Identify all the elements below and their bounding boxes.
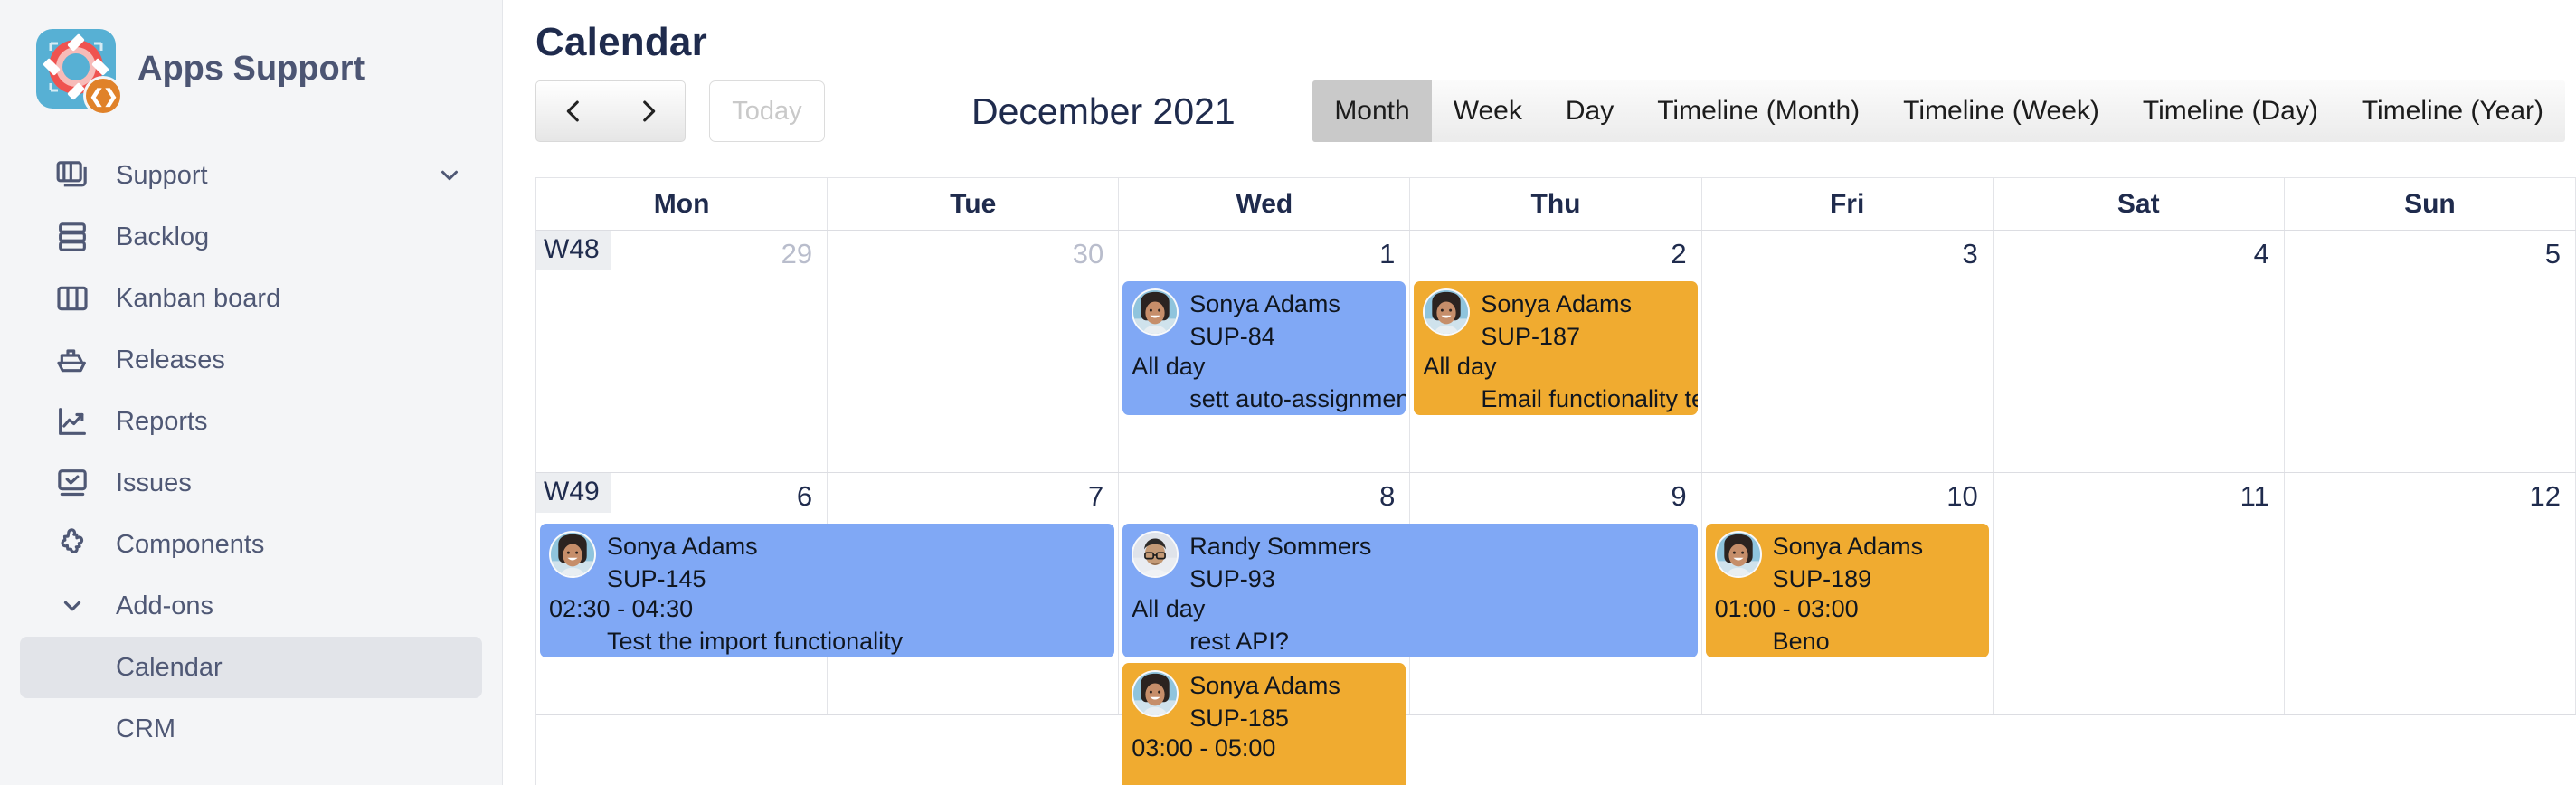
- next-period-button[interactable]: [611, 81, 685, 141]
- event-assignee: Sonya Adams: [1189, 670, 1340, 703]
- main-content: Calendar Today December 2021 Month Wee: [503, 0, 2576, 785]
- day-number: 8: [1379, 480, 1395, 513]
- event-assignee: Sonya Adams: [607, 531, 758, 563]
- calendar-event[interactable]: Sonya AdamsSUP-187All dayEmail functiona…: [1414, 281, 1697, 415]
- tab-timeline-year[interactable]: Timeline (Year): [2340, 80, 2565, 142]
- day-header-fri: Fri: [1702, 178, 1994, 230]
- calendar-day-headers: Mon Tue Wed Thu Fri Sat Sun: [536, 178, 2576, 231]
- chevron-left-icon: [558, 96, 589, 127]
- sidebar-subitem-label: Calendar: [116, 653, 223, 683]
- calendar-week-row: 6789101112W49Sonya AdamsSUP-14502:30 - 0…: [536, 473, 2576, 715]
- sidebar-item-crm[interactable]: CRM: [20, 698, 482, 760]
- calendar-week-row: 293012345W48Sonya AdamsSUP-84All daysett…: [536, 231, 2576, 473]
- board-stack-icon: [52, 156, 92, 195]
- brand[interactable]: ❮❯ Apps Support: [0, 20, 502, 118]
- tab-day[interactable]: Day: [1544, 80, 1635, 142]
- prev-period-button[interactable]: [536, 81, 611, 141]
- app-root: ❮❯ Apps Support Support: [0, 0, 2576, 785]
- tab-timeline-week[interactable]: Timeline (Week): [1881, 80, 2121, 142]
- sidebar: ❮❯ Apps Support Support: [0, 0, 503, 785]
- event-issue-key: SUP-145: [607, 563, 758, 596]
- avatar-woman-icon: [549, 531, 596, 578]
- calendar-toolbar: Today December 2021 Month Week Day Timel…: [503, 72, 2576, 150]
- day-header-wed: Wed: [1119, 178, 1410, 230]
- calendar-event[interactable]: Sonya AdamsSUP-84All daysett auto-assign…: [1122, 281, 1406, 415]
- event-issue-key: SUP-185: [1189, 703, 1340, 735]
- event-assignee: Randy Sommers: [1189, 531, 1371, 563]
- avatar-man-icon: [1132, 531, 1179, 578]
- event-description: Email functionality tes: [1423, 383, 1688, 415]
- sidebar-item-label: Kanban board: [116, 284, 280, 314]
- event-time: All day: [1132, 351, 1397, 383]
- sidebar-item-components[interactable]: Components: [20, 514, 482, 575]
- avatar-woman-icon: [1423, 288, 1470, 336]
- sidebar-subitem-label: CRM: [116, 714, 175, 744]
- day-header-thu: Thu: [1410, 178, 1701, 230]
- sidebar-item-reports[interactable]: Reports: [20, 391, 482, 452]
- chevron-down-icon: [52, 586, 92, 626]
- tab-timeline-month[interactable]: Timeline (Month): [1635, 80, 1881, 142]
- lifebuoy-icon: ❮❯: [36, 29, 116, 109]
- avatar-woman-icon: [1132, 288, 1179, 336]
- view-tabs: Month Week Day Timeline (Month) Timeline…: [1312, 80, 2565, 142]
- sidebar-item-label: Components: [116, 530, 264, 560]
- week-number-badge: W48: [536, 231, 611, 270]
- day-number: 9: [1671, 480, 1686, 513]
- sidebar-item-releases[interactable]: Releases: [20, 329, 482, 391]
- day-number: 11: [2240, 480, 2269, 513]
- sidebar-item-support[interactable]: Support: [20, 145, 482, 206]
- event-description: sett auto-assignments: [1132, 383, 1397, 415]
- calendar-grid: Mon Tue Wed Thu Fri Sat Sun 293012345W48…: [535, 177, 2576, 785]
- day-number: 10: [1946, 480, 1977, 513]
- sidebar-item-label: Reports: [116, 407, 208, 437]
- event-issue-key: SUP-93: [1189, 563, 1371, 596]
- calendar-event[interactable]: Sonya AdamsSUP-18901:00 - 03:00Beno2h: [1706, 524, 1989, 657]
- event-description: Test the import functionality: [549, 626, 1105, 657]
- page-title: Calendar: [503, 0, 2576, 65]
- chevron-right-icon: [633, 96, 664, 127]
- event-issue-key: SUP-189: [1773, 563, 1924, 596]
- sidebar-item-label: Add-ons: [116, 591, 213, 621]
- calendar-nav-buttons: [535, 80, 686, 142]
- day-number: 5: [2545, 238, 2561, 270]
- sidebar-item-kanban-board[interactable]: Kanban board: [20, 268, 482, 329]
- today-button[interactable]: Today: [709, 80, 825, 142]
- week-number-badge: W49: [536, 473, 611, 513]
- day-number: 12: [2530, 480, 2561, 513]
- day-number: 2: [1671, 238, 1686, 270]
- day-header-sun: Sun: [2285, 178, 2576, 230]
- event-time: All day: [1132, 593, 1688, 626]
- day-number: 4: [2254, 238, 2269, 270]
- day-number: 1: [1379, 238, 1395, 270]
- avatar-woman-icon: [1715, 531, 1762, 578]
- layers-icon: [52, 217, 92, 257]
- sidebar-item-label: Releases: [116, 345, 225, 375]
- day-number: 30: [1073, 238, 1103, 270]
- event-description: rest API?: [1132, 626, 1688, 657]
- day-number: 3: [1962, 238, 1977, 270]
- day-number: 7: [1088, 480, 1103, 513]
- brand-title: Apps Support: [137, 50, 365, 89]
- sidebar-item-label: Backlog: [116, 222, 209, 252]
- puzzle-icon: [52, 525, 92, 564]
- calendar-weeks: 293012345W48Sonya AdamsSUP-84All daysett…: [536, 231, 2576, 715]
- sidebar-item-issues[interactable]: Issues: [20, 452, 482, 514]
- week-events: Sonya AdamsSUP-84All daysett auto-assign…: [536, 281, 2576, 472]
- tab-timeline-day[interactable]: Timeline (Day): [2121, 80, 2340, 142]
- week-events: Sonya AdamsSUP-14502:30 - 04:30Test the …: [536, 524, 2576, 714]
- event-issue-key: SUP-187: [1481, 321, 1632, 354]
- event-assignee: Sonya Adams: [1773, 531, 1924, 563]
- day-number: 6: [797, 480, 812, 513]
- sidebar-item-add-ons[interactable]: Add-ons: [20, 575, 482, 637]
- day-header-mon: Mon: [536, 178, 828, 230]
- event-issue-key: SUP-84: [1189, 321, 1340, 354]
- tab-week[interactable]: Week: [1432, 80, 1544, 142]
- ship-icon: [52, 340, 92, 380]
- avatar-woman-icon: [1132, 670, 1179, 717]
- checkbox-screen-icon: [52, 463, 92, 503]
- day-number: 29: [781, 238, 812, 270]
- event-assignee: Sonya Adams: [1481, 288, 1632, 321]
- event-assignee: Sonya Adams: [1189, 288, 1340, 321]
- sidebar-item-label: Support: [116, 161, 208, 191]
- event-time: All day: [1423, 351, 1688, 383]
- sidebar-nav: Support Backlog: [0, 145, 502, 760]
- event-time: 02:30 - 04:30: [549, 593, 1105, 626]
- calendar-event[interactable]: Sonya AdamsSUP-14502:30 - 04:30Test the …: [540, 524, 1114, 657]
- columns-icon: [52, 279, 92, 318]
- event-time: 01:00 - 03:00: [1715, 593, 1980, 626]
- chevron-down-icon[interactable]: [430, 156, 469, 195]
- day-header-tue: Tue: [828, 178, 1119, 230]
- calendar-event[interactable]: Sonya AdamsSUP-18503:00 - 05:00: [1122, 663, 1406, 785]
- sidebar-item-label: Issues: [116, 468, 192, 498]
- calendar-event[interactable]: Randy SommersSUP-93All dayrest API?2d: [1122, 524, 1697, 657]
- tab-month[interactable]: Month: [1312, 80, 1431, 142]
- chart-line-icon: [52, 402, 92, 441]
- day-header-sat: Sat: [1994, 178, 2285, 230]
- month-title: December 2021: [971, 90, 1236, 133]
- code-badge-icon: ❮❯: [83, 76, 123, 116]
- sidebar-item-calendar[interactable]: Calendar: [20, 637, 482, 698]
- event-time: 03:00 - 05:00: [1132, 733, 1397, 765]
- event-description: Beno: [1715, 626, 1980, 657]
- sidebar-item-backlog[interactable]: Backlog: [20, 206, 482, 268]
